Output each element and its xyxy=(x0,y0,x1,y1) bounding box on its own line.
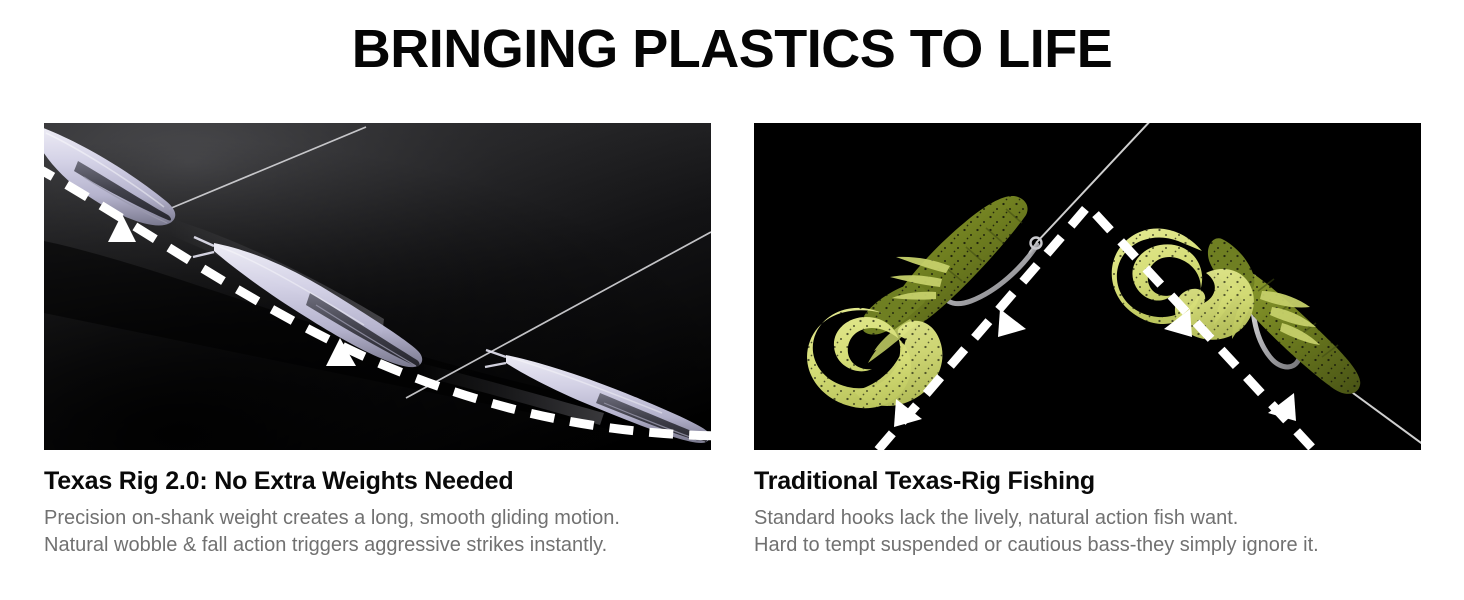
caption-heading: Traditional Texas-Rig Fishing xyxy=(754,466,1421,496)
caption-body-line: Standard hooks lack the lively, natural … xyxy=(754,505,1421,532)
traditional-texas-rig-illustration xyxy=(754,123,1421,450)
caption-body-line: Hard to tempt suspended or cautious bass… xyxy=(754,532,1421,559)
caption-heading: Texas Rig 2.0: No Extra Weights Needed xyxy=(44,466,711,496)
caption-body: Precision on-shank weight creates a long… xyxy=(44,505,711,559)
column-traditional-texas-rig: Traditional Texas-Rig Fishing Standard h… xyxy=(754,123,1421,563)
comparison-columns: Texas Rig 2.0: No Extra Weights Needed P… xyxy=(44,123,1421,563)
caption-body-line: Natural wobble & fall action triggers ag… xyxy=(44,532,711,559)
caption-body: Standard hooks lack the lively, natural … xyxy=(754,505,1421,559)
page-title: BRINGING PLASTICS TO LIFE xyxy=(0,18,1464,80)
texas-rig-2-glide-illustration xyxy=(44,123,711,450)
infographic-page: BRINGING PLASTICS TO LIFE xyxy=(0,0,1464,600)
column-texas-rig-2: Texas Rig 2.0: No Extra Weights Needed P… xyxy=(44,123,711,563)
caption-body-line: Precision on-shank weight creates a long… xyxy=(44,505,711,532)
